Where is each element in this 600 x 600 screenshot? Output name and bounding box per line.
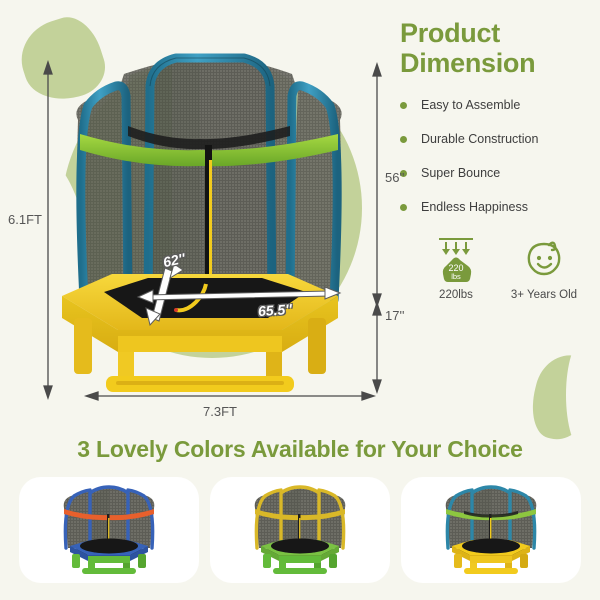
color-variant-green-yellow[interactable] — [210, 477, 390, 583]
trampoline-illustration — [0, 0, 400, 432]
spec-badge-list: 220 lbs 220lbs 3+ Years Old — [400, 234, 596, 301]
badge-artwork: 220 lbs — [412, 234, 500, 282]
weight-capacity-icon: 220 lbs — [431, 236, 481, 282]
page-title-line-2: Dimension — [400, 48, 596, 78]
product-dimension-section: 6.1FT 56'' 17'' 7.3FT 62'' 65.5'' Produc… — [0, 0, 600, 432]
feature-item: Endless Happiness — [400, 200, 596, 214]
feature-label: Durable Construction — [421, 132, 538, 146]
spec-badge-age-range: 3+ Years Old — [500, 234, 588, 301]
badge-caption: 3+ Years Old — [500, 289, 588, 301]
product-info-column: Product Dimension Easy to Assemble Durab… — [400, 18, 596, 301]
color-variant-blue-green[interactable] — [19, 477, 199, 583]
baby-face-icon — [521, 236, 567, 282]
color-variant-list — [0, 477, 600, 583]
feature-item: Super Bounce — [400, 166, 596, 180]
dimension-label-overall-width: 7.3FT — [203, 404, 237, 419]
badge-weight-value-line-2: lbs — [451, 272, 461, 281]
dimension-label-mat-across: 65.5'' — [257, 301, 292, 319]
feature-list: Easy to Assemble Durable Construction Su… — [400, 98, 596, 214]
dimension-label-net-height: 56'' — [385, 170, 404, 185]
badge-artwork — [500, 234, 588, 282]
spec-badge-weight-capacity: 220 lbs 220lbs — [412, 234, 500, 301]
page-title: Product Dimension — [400, 18, 596, 78]
variant-thumbnail-green-yellow — [225, 484, 375, 576]
color-options-section: 3 Lovely Colors Available for Your Choic… — [0, 436, 600, 583]
badge-caption: 220lbs — [412, 289, 500, 301]
feature-label: Super Bounce — [421, 166, 500, 180]
color-variant-yellow-blue[interactable] — [401, 477, 581, 583]
feature-label: Endless Happiness — [421, 200, 528, 214]
page-title-line-1: Product — [400, 18, 596, 48]
dimension-label-frame-height: 17'' — [385, 308, 404, 323]
bullet-dot-icon — [400, 102, 407, 109]
variant-thumbnail-yellow-blue — [416, 484, 566, 576]
bullet-dot-icon — [400, 136, 407, 143]
feature-item: Durable Construction — [400, 132, 596, 146]
feature-label: Easy to Assemble — [421, 98, 520, 112]
color-options-heading: 3 Lovely Colors Available for Your Choic… — [0, 436, 600, 463]
bullet-dot-icon — [400, 204, 407, 211]
dimension-label-overall-height: 6.1FT — [8, 212, 42, 227]
feature-item: Easy to Assemble — [400, 98, 596, 112]
variant-thumbnail-blue-green — [34, 484, 184, 576]
